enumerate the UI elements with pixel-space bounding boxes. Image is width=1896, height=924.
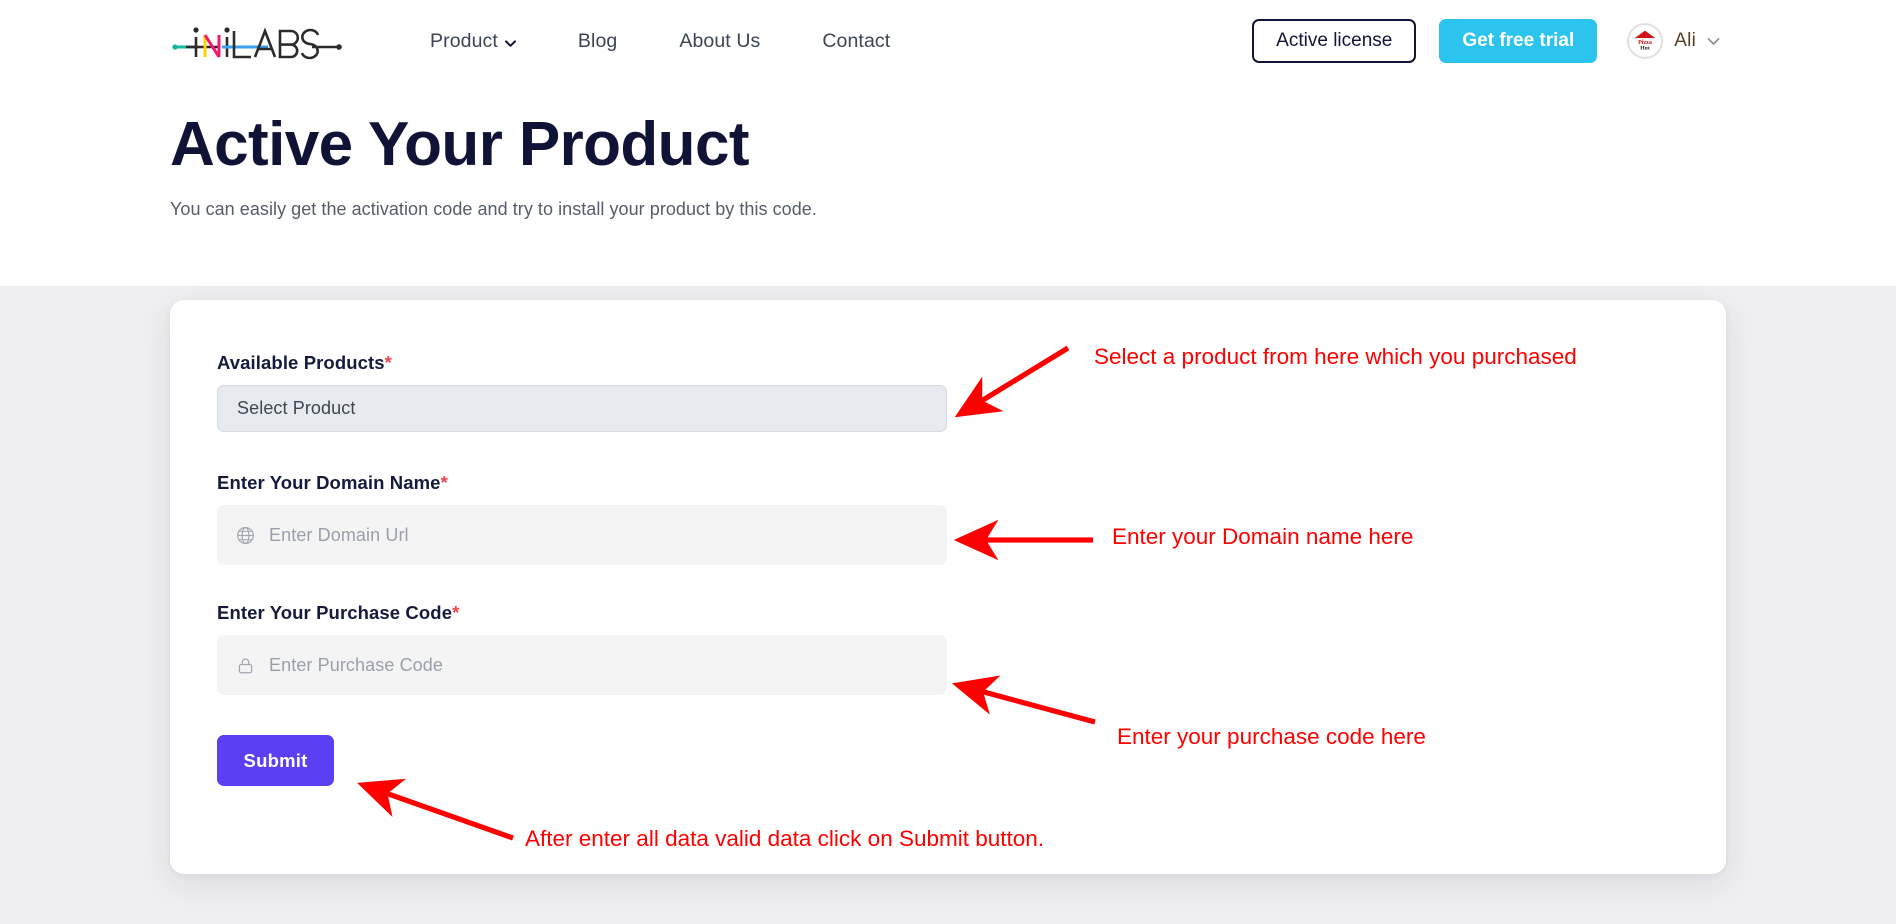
field-available-products: Available Products* Select Product xyxy=(217,352,947,432)
purchase-code-input[interactable]: Enter Purchase Code xyxy=(217,635,947,695)
spacer xyxy=(217,695,947,735)
domain-name-placeholder: Enter Domain Url xyxy=(269,525,409,546)
activation-form: Available Products* Select Product Enter… xyxy=(217,352,947,786)
nav-item-label: Product xyxy=(430,30,498,53)
header-actions: Active license Get free trial Pizza Hut … xyxy=(1252,0,1896,82)
domain-name-label: Enter Your Domain Name* xyxy=(217,472,947,494)
hero-section: Active Your Product You can easily get t… xyxy=(170,112,817,220)
select-value: Select Product xyxy=(237,398,355,419)
label-text: Available Products xyxy=(217,352,385,373)
nav-item-about-us[interactable]: About Us xyxy=(679,30,760,53)
available-products-label: Available Products* xyxy=(217,352,947,374)
chevron-down-icon xyxy=(1707,37,1720,46)
globe-icon xyxy=(236,526,255,545)
get-free-trial-button[interactable]: Get free trial xyxy=(1439,19,1597,63)
spacer xyxy=(217,432,947,472)
purchase-code-label: Enter Your Purchase Code* xyxy=(217,602,947,624)
nav-item-label: Blog xyxy=(578,30,617,53)
user-name: Ali xyxy=(1674,30,1696,52)
nav-item-product[interactable]: Product xyxy=(430,30,516,53)
main-navigation: Product Blog About Us Contact xyxy=(430,0,890,82)
submit-button[interactable]: Submit xyxy=(217,735,334,786)
required-marker: * xyxy=(385,352,392,373)
field-domain-name: Enter Your Domain Name* Enter Domain Url xyxy=(217,472,947,565)
page-title: Active Your Product xyxy=(170,112,817,177)
nav-item-blog[interactable]: Blog xyxy=(578,30,617,53)
user-menu[interactable]: Pizza Hut Ali xyxy=(1627,23,1720,59)
domain-name-input[interactable]: Enter Domain Url xyxy=(217,505,947,565)
spacer xyxy=(217,565,947,602)
nav-item-contact[interactable]: Contact xyxy=(822,30,890,53)
required-marker: * xyxy=(452,602,459,623)
page-subtitle: You can easily get the activation code a… xyxy=(170,199,817,220)
active-license-button[interactable]: Active license xyxy=(1252,19,1416,63)
available-products-select[interactable]: Select Product xyxy=(217,385,947,432)
chevron-down-icon xyxy=(505,40,516,47)
label-text: Enter Your Purchase Code xyxy=(217,602,452,623)
field-purchase-code: Enter Your Purchase Code* Enter Purchase… xyxy=(217,602,947,695)
svg-text:Hut: Hut xyxy=(1641,46,1651,52)
nav-item-label: Contact xyxy=(822,30,890,53)
site-header: Product Blog About Us Contact Active lic… xyxy=(0,0,1896,82)
label-text: Enter Your Domain Name xyxy=(217,472,441,493)
lock-icon xyxy=(236,656,255,675)
inilabs-logo[interactable] xyxy=(172,16,350,64)
avatar: Pizza Hut xyxy=(1627,23,1663,59)
purchase-code-placeholder: Enter Purchase Code xyxy=(269,655,443,676)
required-marker: * xyxy=(441,472,448,493)
nav-item-label: About Us xyxy=(679,30,760,53)
activation-card: Available Products* Select Product Enter… xyxy=(170,300,1726,874)
